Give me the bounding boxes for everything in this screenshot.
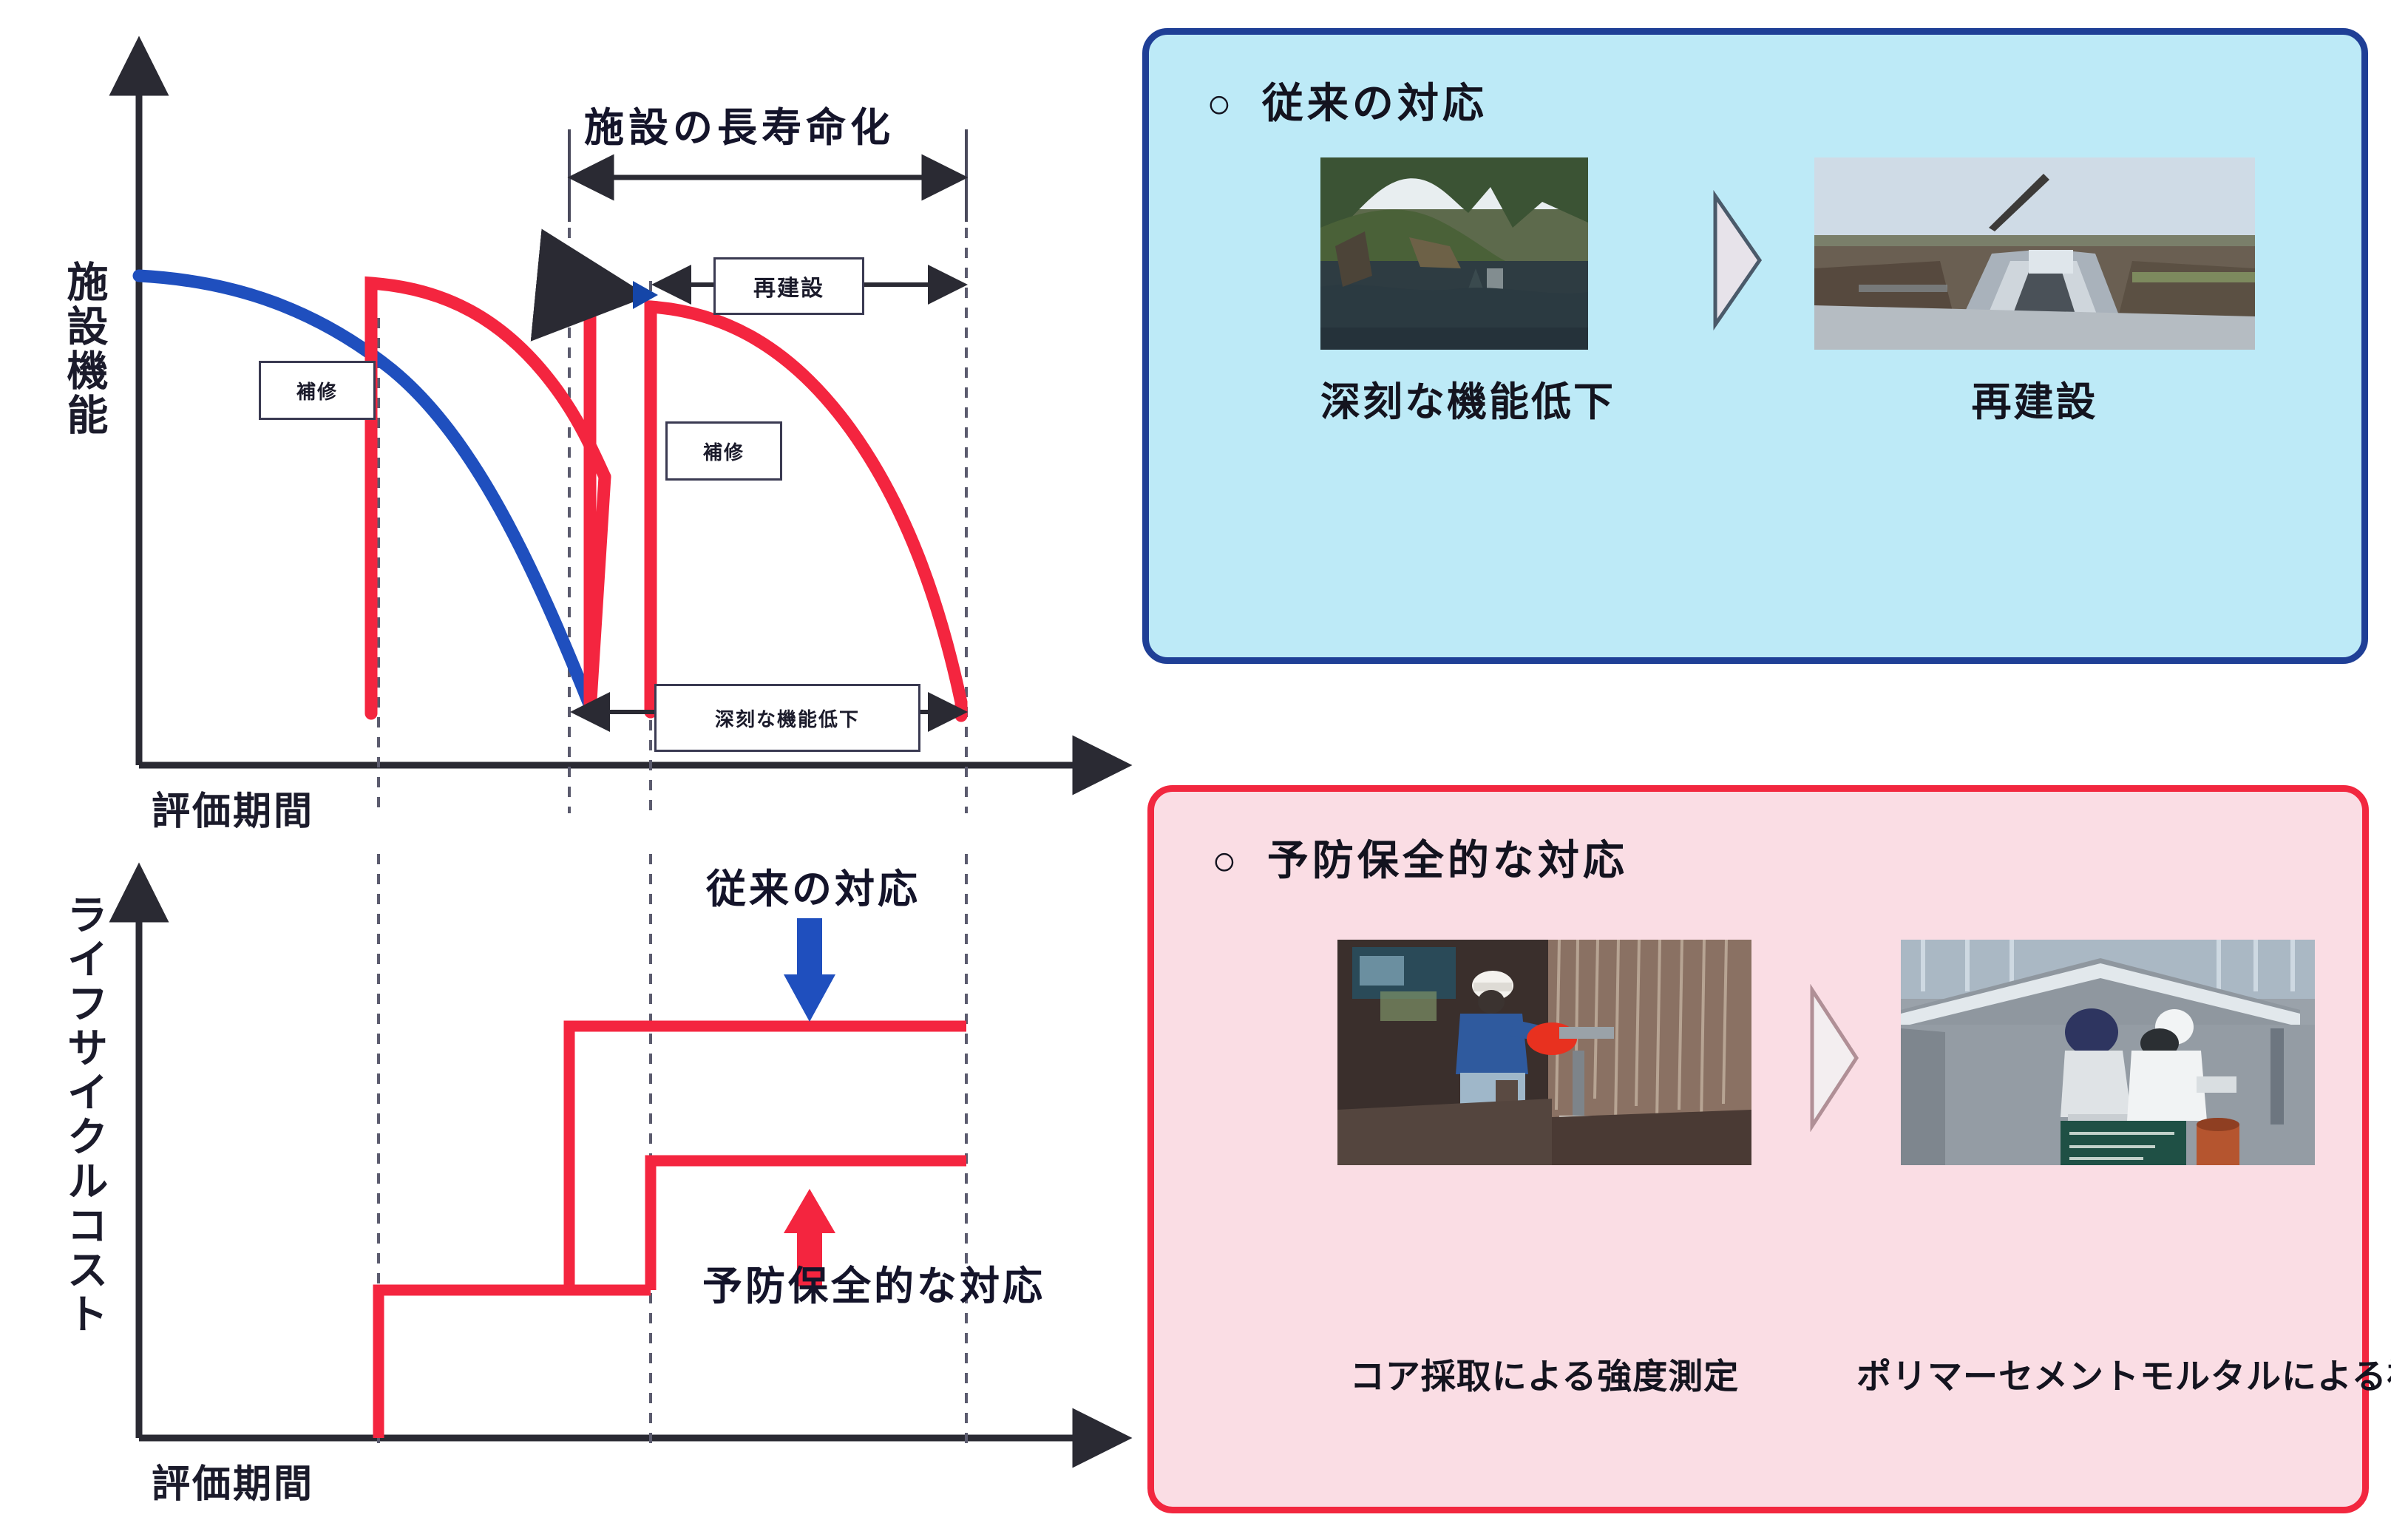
bottom-chart-x-axis-label: 評価期間 [152,1453,314,1508]
panel-preventive: ○予防保全的な対応 [1147,785,2369,1513]
down-arrow-conventional [784,918,835,1022]
span-label-longevity: 施設の長寿命化 [584,95,895,153]
panel-preventive-heading: ○予防保全的な対応 [1212,827,1628,887]
circle-marker-icon: ○ [1207,79,1235,127]
photo-core-sampling [1337,940,1751,1165]
circle-marker-icon-2: ○ [1212,836,1241,884]
panel-conventional-heading: ○従来の対応 [1207,70,1488,130]
box-label-repair-2: 補修 [665,421,782,481]
top-chart-y-axis-label: 施設機能 [64,260,105,578]
caption-core-sampling: コア採取による強度測定 [1315,1348,1774,1399]
photo-mortar-repair [1901,940,2315,1165]
photo-deteriorated-canal [1320,157,1588,350]
caption-mortar-repair: ポリマーセメントモルタルによる補修 [1856,1348,2367,1399]
caption-deteriorated-canal: 深刻な機能低下 [1320,369,1588,427]
bottom-chart-y-axis-label: ライフサイクルコスト [64,893,105,1411]
panel-preventive-title: 予防保全的な対応 [1267,837,1628,883]
panel-conventional: ○従来の対応 [1142,28,2368,664]
box-label-serious-decline: 深刻な機能低下 [654,684,920,752]
box-label-repair-1: 補修 [259,361,376,420]
figure-root: 施設機能 評価期間 施設の長寿命化 再建設 補修 補修 深刻な機能低下 ライフサ… [0,0,2391,1540]
triangle-right-icon-2 [1805,984,1864,1132]
note-conventional-cost: 従来の対応 [706,856,920,915]
blue-short-arrow [569,288,630,294]
top-chart-x-axis-label: 評価期間 [152,780,314,835]
series-maintained-seg2 [651,307,961,712]
series-cost-conventional [379,1026,966,1438]
charts-column: 施設機能 評価期間 施設の長寿命化 再建設 補修 補修 深刻な機能低下 ライフサ… [0,0,1153,1540]
box-label-rebuild: 再建設 [713,257,864,315]
panel-conventional-title: 従来の対応 [1262,80,1488,126]
triangle-right-icon [1708,190,1767,330]
caption-reconstruction: 再建設 [1814,369,2255,427]
photo-reconstruction-site [1814,157,2255,350]
note-preventive-cost: 予防保全的な対応 [702,1253,1045,1312]
